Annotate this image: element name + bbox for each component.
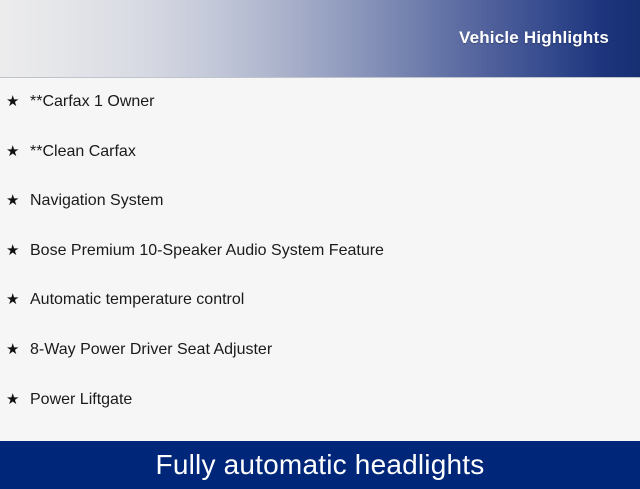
slide-footer: Fully automatic headlights bbox=[0, 441, 640, 489]
list-item: ★ 8-Way Power Driver Seat Adjuster bbox=[0, 342, 640, 392]
vehicle-highlights-slide: Vehicle Highlights ★ **Carfax 1 Owner ★ … bbox=[0, 0, 640, 480]
star-icon: ★ bbox=[6, 292, 22, 307]
list-item: ★ **Carfax 1 Owner bbox=[0, 94, 640, 144]
list-item-label: **Carfax 1 Owner bbox=[30, 94, 155, 110]
list-item-label: **Clean Carfax bbox=[30, 144, 136, 160]
star-icon: ★ bbox=[6, 392, 22, 407]
list-item-label: Power Liftgate bbox=[30, 392, 132, 408]
list-item-label: Automatic temperature control bbox=[30, 292, 244, 308]
list-item-label: 8-Way Power Driver Seat Adjuster bbox=[30, 342, 272, 358]
star-icon: ★ bbox=[6, 342, 22, 357]
list-item-label: Navigation System bbox=[30, 193, 163, 209]
star-icon: ★ bbox=[6, 94, 22, 109]
vehicle-highlights-list: ★ **Carfax 1 Owner ★ **Clean Carfax ★ Na… bbox=[0, 78, 640, 441]
list-item: ★ Power Liftgate bbox=[0, 392, 640, 442]
list-item: ★ Bose Premium 10-Speaker Audio System F… bbox=[0, 243, 640, 293]
star-icon: ★ bbox=[6, 144, 22, 159]
list-item: ★ Automatic temperature control bbox=[0, 292, 640, 342]
list-item: ★ **Clean Carfax bbox=[0, 144, 640, 194]
page-title: Vehicle Highlights bbox=[459, 29, 609, 48]
list-item-label: Bose Premium 10-Speaker Audio System Fea… bbox=[30, 243, 384, 259]
footer-caption: Fully automatic headlights bbox=[156, 451, 485, 479]
list-item: ★ Navigation System bbox=[0, 193, 640, 243]
highlights-content: ★ **Carfax 1 Owner ★ **Clean Carfax ★ Na… bbox=[0, 78, 640, 441]
star-icon: ★ bbox=[6, 243, 22, 258]
slide-header: Vehicle Highlights bbox=[0, 0, 640, 78]
star-icon: ★ bbox=[6, 193, 22, 208]
